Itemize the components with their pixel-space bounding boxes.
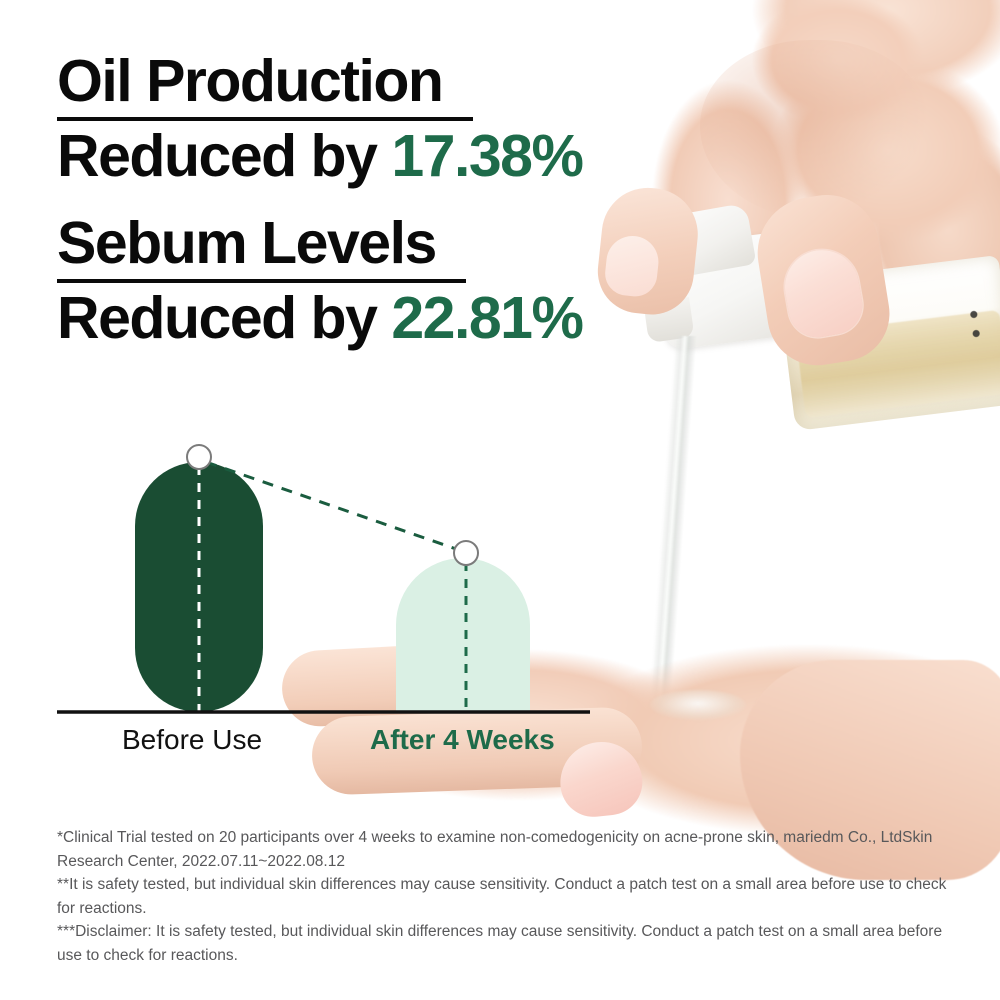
footnote-1: *Clinical Trial tested on 20 participant… bbox=[57, 826, 957, 873]
footnotes-block: *Clinical Trial tested on 20 participant… bbox=[57, 826, 957, 967]
palm-finger-upper bbox=[280, 640, 524, 728]
headline-1-subline: Reduced by 17.38% bbox=[57, 127, 697, 186]
serum-bottle-body bbox=[778, 255, 1000, 431]
chart-label-after-4-weeks: After 4 Weeks bbox=[370, 726, 555, 754]
headline-1-value: 17.38% bbox=[391, 123, 582, 189]
headline-2-value: 22.81% bbox=[391, 285, 582, 351]
trend-connector-line bbox=[206, 462, 459, 550]
headline-block: Oil Production Reduced by 17.38% Sebum L… bbox=[57, 52, 697, 348]
bottle-label-icon bbox=[952, 298, 998, 351]
marker-after-4-weeks bbox=[454, 541, 478, 565]
bar-before-use bbox=[135, 462, 263, 712]
serum-pool-in-palm bbox=[650, 690, 746, 720]
headline-1-prefix: Reduced by bbox=[57, 123, 391, 189]
palm-thumbnail bbox=[556, 738, 645, 820]
hand-shading bbox=[700, 40, 930, 220]
headline-2-prefix: Reduced by bbox=[57, 285, 391, 351]
headline-2-title: Sebum Levels bbox=[57, 214, 436, 277]
headline-2-underline bbox=[57, 279, 466, 283]
thumb bbox=[750, 187, 897, 372]
bar-after-4-weeks bbox=[396, 558, 530, 712]
promo-infographic: Oil Production Reduced by 17.38% Sebum L… bbox=[0, 0, 1000, 1000]
headline-1-title: Oil Production bbox=[57, 52, 442, 115]
marker-before-use bbox=[187, 445, 211, 469]
headline-1-underline bbox=[57, 117, 473, 121]
serum-liquid bbox=[796, 310, 1000, 418]
chart-label-before-use: Before Use bbox=[122, 726, 262, 754]
headline-2-subline: Reduced by 22.81% bbox=[57, 289, 697, 348]
footnote-2: **It is safety tested, but individual sk… bbox=[57, 873, 957, 920]
thumbnail bbox=[779, 244, 867, 342]
serum-stream bbox=[649, 336, 697, 708]
palm-finger-lower bbox=[311, 706, 644, 795]
footnote-3: ***Disclaimer: It is safety tested, but … bbox=[57, 920, 957, 967]
